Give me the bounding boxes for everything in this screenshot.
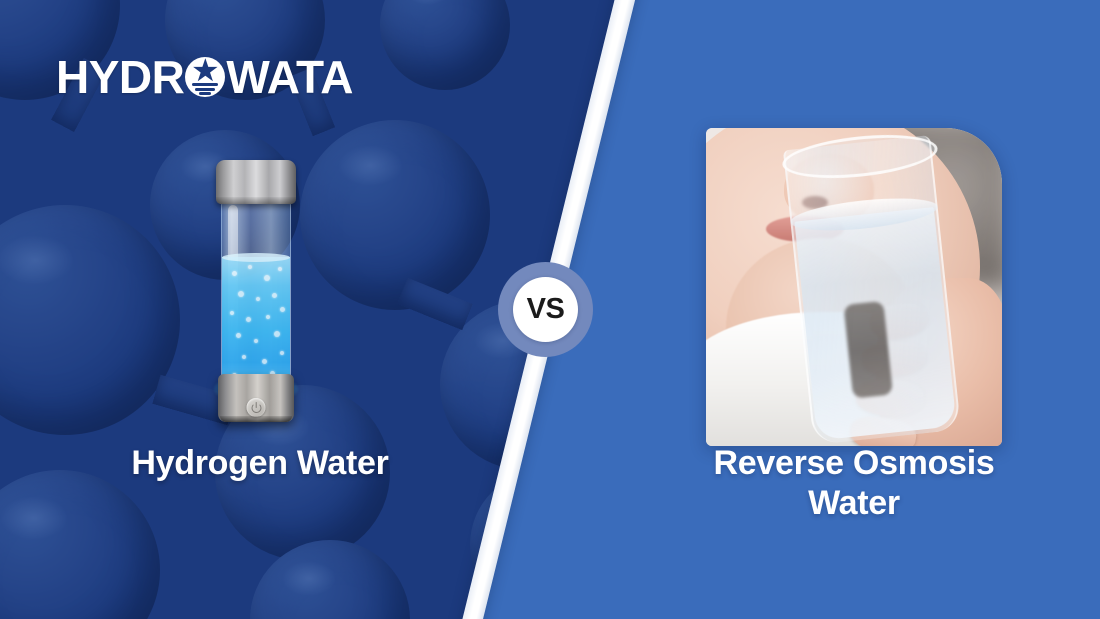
water-surface (222, 253, 290, 262)
bottle-base (218, 374, 294, 422)
power-button-icon[interactable] (247, 398, 266, 417)
right-caption-line1: Reverse Osmosis (676, 443, 1032, 483)
wave-line-1 (192, 83, 218, 86)
photo-glass-water (794, 207, 956, 440)
reverse-osmosis-photo (706, 128, 1002, 446)
brand-logo[interactable]: HYDR WATA (56, 52, 353, 102)
bottle-water (222, 257, 290, 389)
left-caption: Hydrogen Water (60, 444, 460, 483)
photo-water-reflection (843, 301, 893, 399)
logo-text-part1: HYDR (56, 54, 184, 100)
star-wave-circle-icon (185, 57, 225, 97)
comparison-banner: HYDR WATA (0, 0, 1100, 619)
vs-badge: VS (498, 262, 593, 357)
bottle-glass-body (221, 200, 291, 390)
bottle-cap (216, 160, 296, 204)
right-caption-line2: Water (676, 483, 1032, 523)
vs-label: VS (527, 295, 565, 324)
star-shape (193, 58, 218, 83)
wave-line-3 (199, 92, 211, 95)
photo-drinking-glass (783, 135, 961, 445)
right-caption: Reverse Osmosis Water (676, 443, 1032, 523)
hydrogen-water-bottle-image (214, 160, 298, 422)
wave-line-2 (195, 88, 215, 91)
logo-text-part2: WATA (226, 54, 353, 100)
vs-badge-inner: VS (513, 277, 578, 342)
